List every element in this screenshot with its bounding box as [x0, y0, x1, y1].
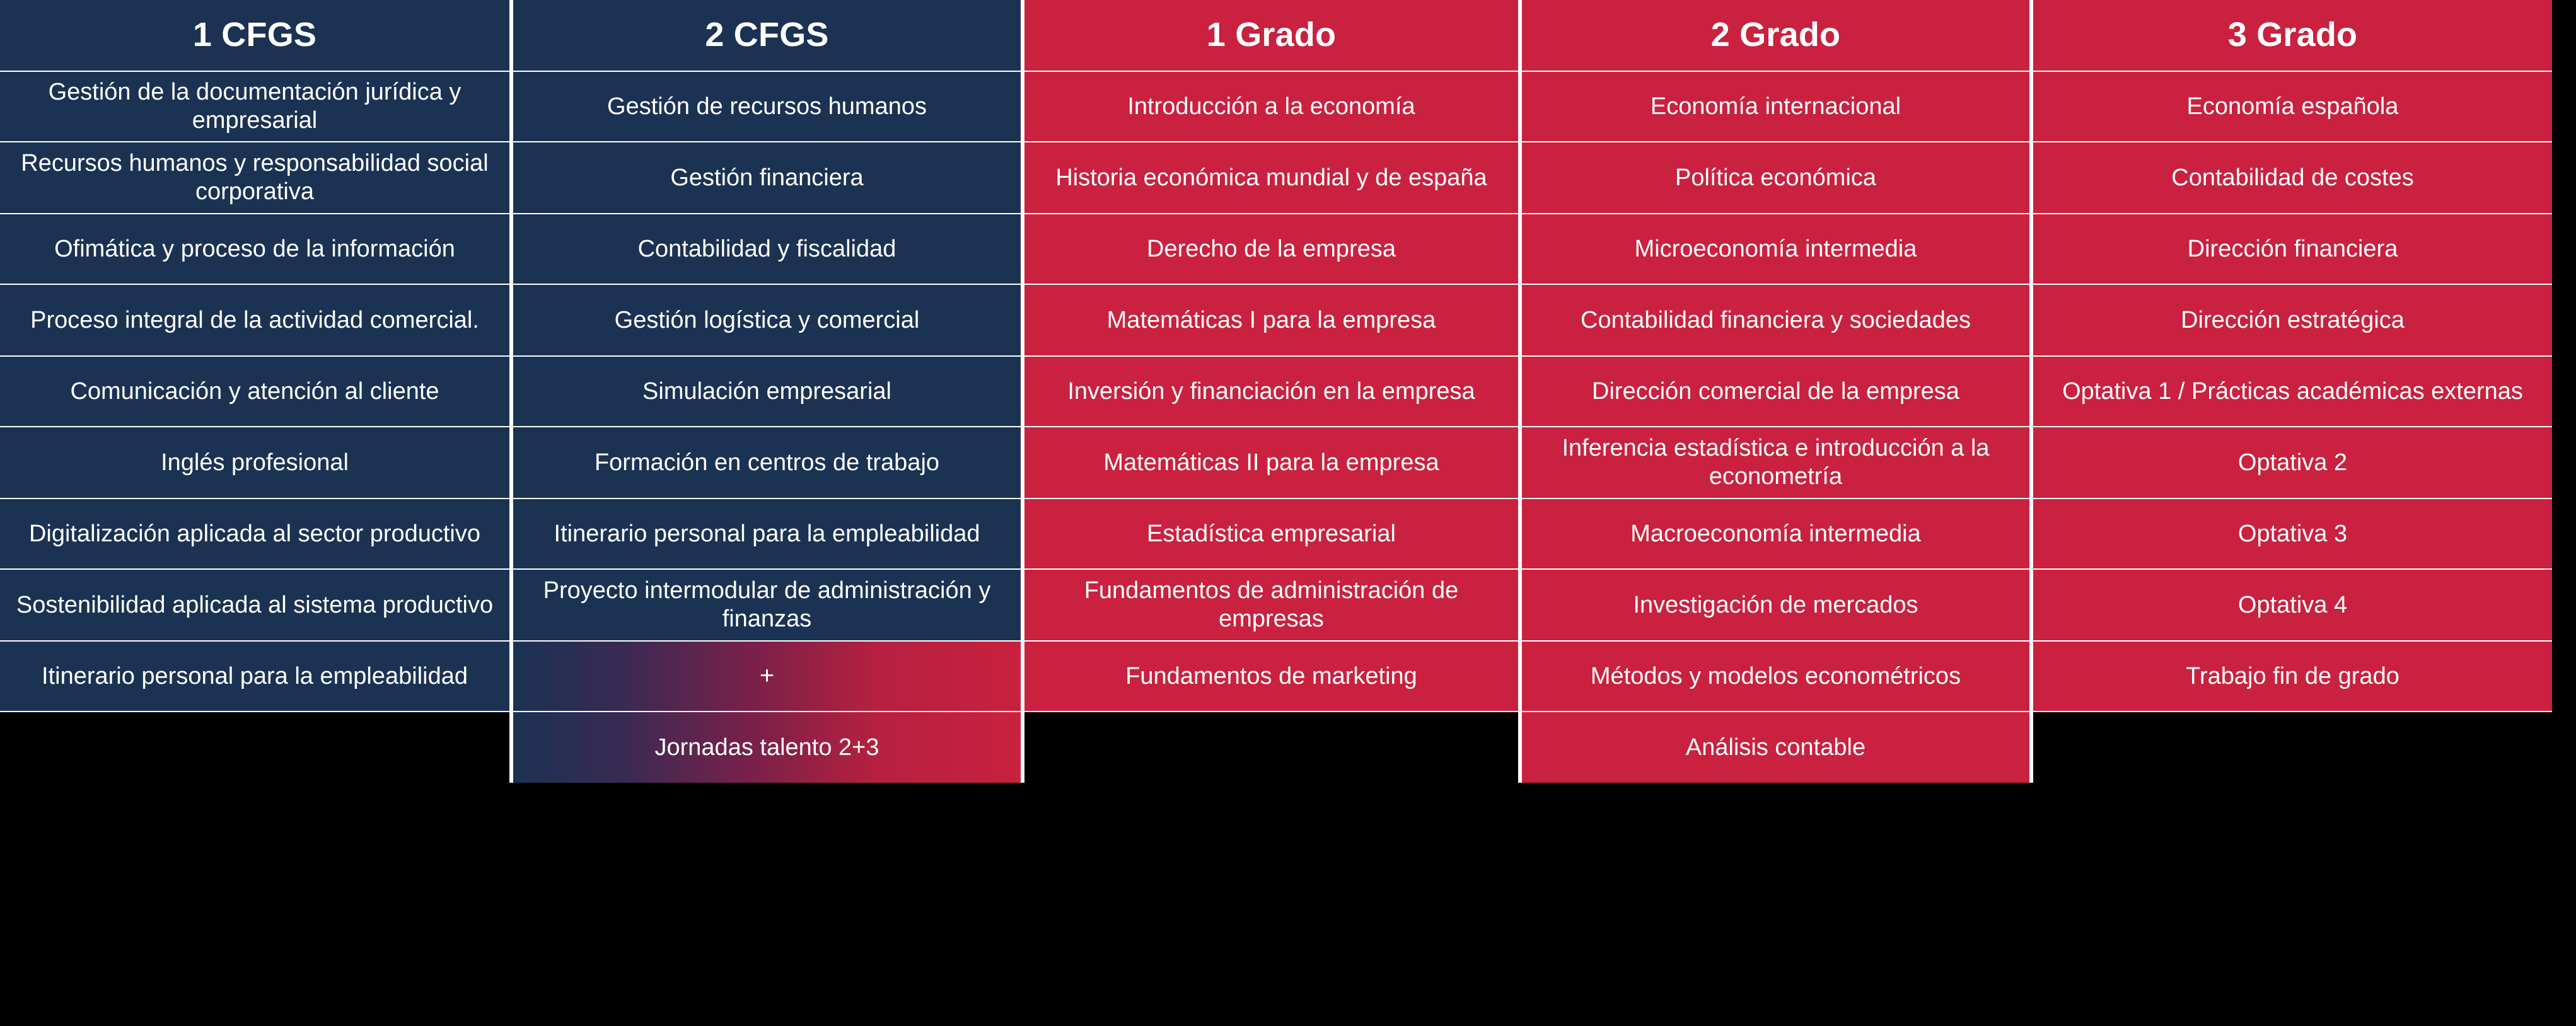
cell-c4-r4: Contabilidad financiera y sociedades — [1520, 285, 2031, 355]
cell-c2-r4: Gestión logística y comercial — [511, 285, 1023, 355]
cell-c2-r10-label: Jornadas talento 2+3 — [655, 734, 879, 762]
cell-c2-r8: Proyecto intermodular de administración … — [511, 570, 1023, 640]
cell-c4-r10-label: Análisis contable — [1686, 734, 1865, 762]
cell-c5-r5: Optativa 1 / Prácticas académicas extern… — [2031, 357, 2552, 426]
cell-c3-r5: Inversión y financiación en la empresa — [1023, 357, 1520, 426]
cell-c2-r3-label: Contabilidad y fiscalidad — [638, 235, 896, 263]
cell-c1-r8-label: Sostenibilidad aplicada al sistema produ… — [16, 591, 493, 620]
cell-c5-r7: Optativa 3 — [2031, 499, 2552, 568]
cell-c2-r7-label: Itinerario personal para la empleabilida… — [554, 520, 980, 548]
cell-c2-r1: Gestión de recursos humanos — [511, 72, 1023, 141]
cell-c1-r8: Sostenibilidad aplicada al sistema produ… — [0, 570, 511, 640]
cell-c4-r9-label: Métodos y modelos econométricos — [1591, 662, 1961, 691]
cell-c4-r8-label: Investigación de mercados — [1633, 591, 1918, 620]
cell-c1-r4-label: Proceso integral de la actividad comerci… — [30, 306, 479, 335]
cell-c4-r8: Investigación de mercados — [1520, 570, 2031, 640]
cell-c2-r6: Formación en centros de trabajo — [511, 427, 1023, 498]
cell-c4-r3: Microeconomía intermedia — [1520, 214, 2031, 284]
cell-c3-r8: Fundamentos de administración de empresa… — [1023, 570, 1520, 640]
cell-c1-r3-label: Ofimática y proceso de la información — [54, 235, 455, 263]
cell-c1-r1: Gestión de la documentación jurídica y e… — [0, 72, 511, 141]
cell-c3-r5-label: Inversión y financiación en la empresa — [1067, 378, 1475, 406]
cell-c1-r7: Digitalización aplicada al sector produc… — [0, 499, 511, 568]
cell-c2-r7: Itinerario personal para la empleabilida… — [511, 499, 1023, 568]
cell-c2-r1-label: Gestión de recursos humanos — [607, 93, 927, 121]
cell-c3-r4: Matemáticas I para la empresa — [1023, 285, 1520, 355]
cell-c1-r2-label: Recursos humanos y responsabilidad socia… — [10, 149, 499, 206]
cell-c4-r2-label: Política económica — [1675, 164, 1876, 192]
cell-c2-r9-label: + — [760, 661, 774, 691]
cell-c5-r3-label: Dirección financiera — [2188, 235, 2398, 263]
cell-c1-r9-label: Itinerario personal para la empleabilida… — [42, 662, 468, 691]
cell-c2-r4-label: Gestión logística y comercial — [615, 306, 920, 335]
cell-c3-r7: Estadística empresarial — [1023, 499, 1520, 568]
cell-c5-r1: Economía española — [2031, 72, 2552, 141]
cell-c5-r5-label: Optativa 1 / Prácticas académicas extern… — [2062, 378, 2523, 406]
cell-c3-r1-label: Introducción a la economía — [1127, 93, 1415, 121]
cell-c4-r3-label: Microeconomía intermedia — [1635, 235, 1917, 263]
cell-c5-r6-label: Optativa 2 — [2238, 449, 2347, 477]
cell-c3-r9: Fundamentos de marketing — [1023, 642, 1520, 711]
cell-c4-r5: Dirección comercial de la empresa — [1520, 357, 2031, 426]
cell-c2-r3: Contabilidad y fiscalidad — [511, 214, 1023, 284]
cell-c5-r2-label: Contabilidad de costes — [2171, 164, 2413, 192]
column-header-1-label: 1 CFGS — [193, 15, 316, 55]
cell-c1-r5: Comunicación y atención al cliente — [0, 357, 511, 426]
cell-c3-r4-label: Matemáticas I para la empresa — [1107, 306, 1436, 335]
cell-c1-r9: Itinerario personal para la empleabilida… — [0, 642, 511, 711]
cell-c3-r8-label: Fundamentos de administración de empresa… — [1035, 577, 1508, 633]
cell-c5-r6: Optativa 2 — [2031, 427, 2552, 498]
cell-c3-r3-label: Derecho de la empresa — [1147, 235, 1396, 263]
cell-c1-r3: Ofimática y proceso de la información — [0, 214, 511, 284]
cell-c1-r1-label: Gestión de la documentación jurídica y e… — [10, 78, 499, 135]
cell-c2-r9: + — [511, 642, 1023, 711]
cell-c2-r6-label: Formación en centros de trabajo — [595, 449, 939, 477]
cell-c5-r3: Dirección financiera — [2031, 214, 2552, 284]
cell-c3-r6-label: Matemáticas II para la empresa — [1103, 449, 1439, 477]
cell-c1-r10 — [0, 712, 511, 783]
cell-c4-r1: Economía internacional — [1520, 72, 2031, 141]
cell-c3-r2: Historia económica mundial y de españa — [1023, 142, 1520, 213]
cell-c5-r10 — [2031, 712, 2552, 783]
cell-c5-r8: Optativa 4 — [2031, 570, 2552, 640]
cell-c3-r1: Introducción a la economía — [1023, 72, 1520, 141]
column-header-3: 1 Grado — [1023, 0, 1520, 71]
cell-c2-r5: Simulación empresarial — [511, 357, 1023, 426]
cell-c3-r7-label: Estadística empresarial — [1147, 520, 1396, 548]
cell-c3-r9-label: Fundamentos de marketing — [1125, 662, 1417, 691]
cell-c4-r4-label: Contabilidad financiera y sociedades — [1581, 306, 1971, 335]
cell-c4-r5-label: Dirección comercial de la empresa — [1592, 378, 1959, 406]
cell-c3-r6: Matemáticas II para la empresa — [1023, 427, 1520, 498]
cell-c4-r9: Métodos y modelos econométricos — [1520, 642, 2031, 711]
cell-c2-r10: Jornadas talento 2+3 — [511, 712, 1023, 783]
cell-c1-r6: Inglés profesional — [0, 427, 511, 498]
cell-c3-r3: Derecho de la empresa — [1023, 214, 1520, 284]
cell-c4-r7-label: Macroeconomía intermedia — [1630, 520, 1920, 548]
cell-c5-r7-label: Optativa 3 — [2238, 520, 2347, 548]
cell-c4-r2: Política económica — [1520, 142, 2031, 213]
cell-c5-r4: Dirección estratégica — [2031, 285, 2552, 355]
cell-c4-r6: Inferencia estadística e introducción a … — [1520, 427, 2031, 498]
cell-c5-r8-label: Optativa 4 — [2238, 591, 2347, 620]
cell-c1-r7-label: Digitalización aplicada al sector produc… — [29, 520, 480, 548]
cell-c3-r10 — [1023, 712, 1520, 783]
cell-c5-r9: Trabajo fin de grado — [2031, 642, 2552, 711]
cell-c1-r5-label: Comunicación y atención al cliente — [70, 378, 439, 406]
column-header-4: 2 Grado — [1520, 0, 2031, 71]
cell-c1-r6-label: Inglés profesional — [161, 449, 349, 477]
curriculum-table: 1 CFGS2 CFGS1 Grado2 Grado3 GradoGestión… — [0, 0, 2576, 1026]
cell-c4-r1-label: Economía internacional — [1651, 93, 1901, 121]
cell-c5-r4-label: Dirección estratégica — [2181, 306, 2405, 335]
cell-c4-r10: Análisis contable — [1520, 712, 2031, 783]
cell-c3-r2-label: Historia económica mundial y de españa — [1055, 164, 1487, 192]
cell-c4-r6-label: Inferencia estadística e introducción a … — [1532, 434, 2019, 491]
cell-c2-r2-label: Gestión financiera — [670, 164, 863, 192]
column-header-2-label: 2 CFGS — [705, 15, 828, 55]
cell-c2-r2: Gestión financiera — [511, 142, 1023, 213]
cell-c5-r2: Contabilidad de costes — [2031, 142, 2552, 213]
column-header-3-label: 1 Grado — [1207, 15, 1336, 55]
cell-c2-r8-label: Proyecto intermodular de administración … — [523, 577, 1011, 633]
column-header-5: 3 Grado — [2031, 0, 2552, 71]
column-header-4-label: 2 Grado — [1711, 15, 1840, 55]
column-header-5-label: 3 Grado — [2228, 15, 2357, 55]
cell-c2-r5-label: Simulación empresarial — [642, 378, 891, 406]
cell-c4-r7: Macroeconomía intermedia — [1520, 499, 2031, 568]
column-header-2: 2 CFGS — [511, 0, 1023, 71]
cell-c5-r1-label: Economía española — [2187, 93, 2399, 121]
cell-c5-r9-label: Trabajo fin de grado — [2186, 662, 2399, 691]
cell-c1-r4: Proceso integral de la actividad comerci… — [0, 285, 511, 355]
cell-c1-r2: Recursos humanos y responsabilidad socia… — [0, 142, 511, 213]
column-header-1: 1 CFGS — [0, 0, 511, 71]
